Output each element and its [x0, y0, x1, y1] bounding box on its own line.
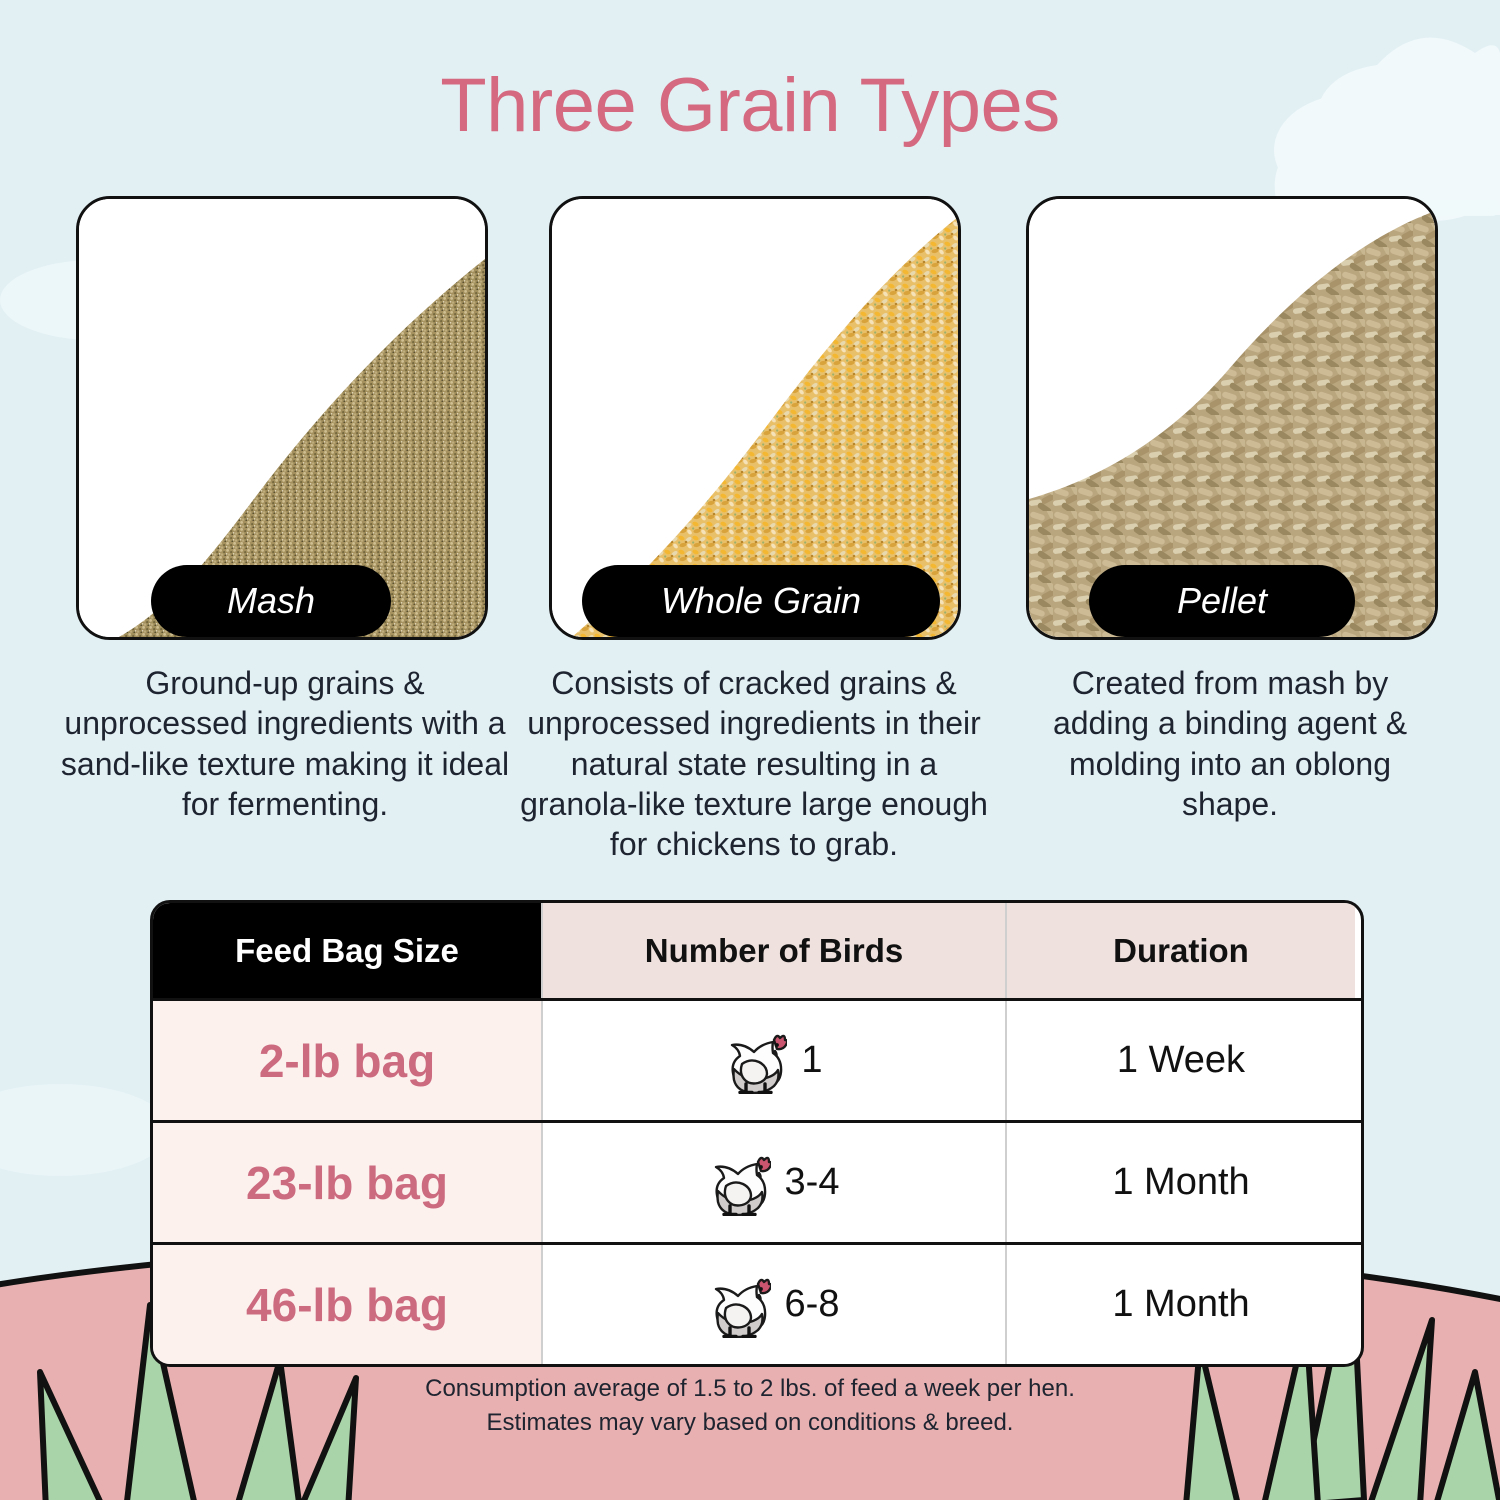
grain-label-text: Pellet: [1177, 580, 1267, 622]
grain-description-whole-grain: Consists of cracked grains & unprocessed…: [508, 663, 1000, 865]
table-row[interactable]: 2-lb bag: [153, 998, 1361, 1120]
column-header-duration: Duration: [1005, 903, 1355, 998]
footnote-line-2: Estimates may vary based on conditions &…: [0, 1406, 1500, 1440]
bird-count-value: 3-4: [785, 1161, 840, 1204]
duration-value: 1 Week: [1117, 1039, 1245, 1082]
infographic-canvas: Three Grain Types: [0, 0, 1500, 1500]
footnote-line-1: Consumption average of 1.5 to 2 lbs. of …: [0, 1372, 1500, 1406]
cell-duration: 1 Month: [1005, 1123, 1355, 1242]
grain-description-pellet: Created from mash by adding a binding ag…: [1020, 663, 1440, 824]
footnote: Consumption average of 1.5 to 2 lbs. of …: [0, 1372, 1500, 1440]
page-title: Three Grain Types: [0, 68, 1500, 144]
table-row[interactable]: 46-lb bag: [153, 1242, 1361, 1364]
grain-label-text: Whole Grain: [661, 580, 861, 622]
grain-card-pellet[interactable]: Pellet: [1026, 196, 1438, 640]
grain-card-mash[interactable]: Mash: [76, 196, 488, 640]
grain-label-pill: Pellet: [1089, 565, 1355, 637]
cell-feed-bag-size: 2-lb bag: [153, 1001, 541, 1120]
column-header-number-of-birds: Number of Birds: [541, 903, 1005, 998]
grain-label-text: Mash: [227, 580, 315, 622]
grain-description-mash: Ground-up grains & unprocessed ingredien…: [60, 663, 510, 824]
chicken-icon: [709, 1150, 771, 1216]
duration-value: 1 Month: [1112, 1283, 1249, 1326]
table-header-row: Feed Bag Size Number of Birds Duration: [153, 903, 1361, 998]
cell-feed-bag-size: 23-lb bag: [153, 1123, 541, 1242]
chicken-icon: [725, 1028, 787, 1094]
column-header-feed-bag-size: Feed Bag Size: [153, 903, 541, 998]
cell-number-of-birds: 1: [541, 1001, 1005, 1120]
cell-duration: 1 Week: [1005, 1001, 1355, 1120]
grain-card-whole-grain[interactable]: Whole Grain: [549, 196, 961, 640]
table-row[interactable]: 23-lb bag: [153, 1120, 1361, 1242]
duration-value: 1 Month: [1112, 1161, 1249, 1204]
chicken-icon: [709, 1272, 771, 1338]
bird-count-value: 6-8: [785, 1283, 840, 1326]
bird-count-value: 1: [801, 1039, 822, 1082]
feed-bag-table: Feed Bag Size Number of Birds Duration 2…: [150, 900, 1364, 1367]
cell-feed-bag-size: 46-lb bag: [153, 1245, 541, 1364]
grain-card-row: Mash: [0, 196, 1500, 646]
cell-duration: 1 Month: [1005, 1245, 1355, 1364]
grain-label-pill: Mash: [151, 565, 391, 637]
cell-number-of-birds: 3-4: [541, 1123, 1005, 1242]
cell-number-of-birds: 6-8: [541, 1245, 1005, 1364]
grain-label-pill: Whole Grain: [582, 565, 940, 637]
